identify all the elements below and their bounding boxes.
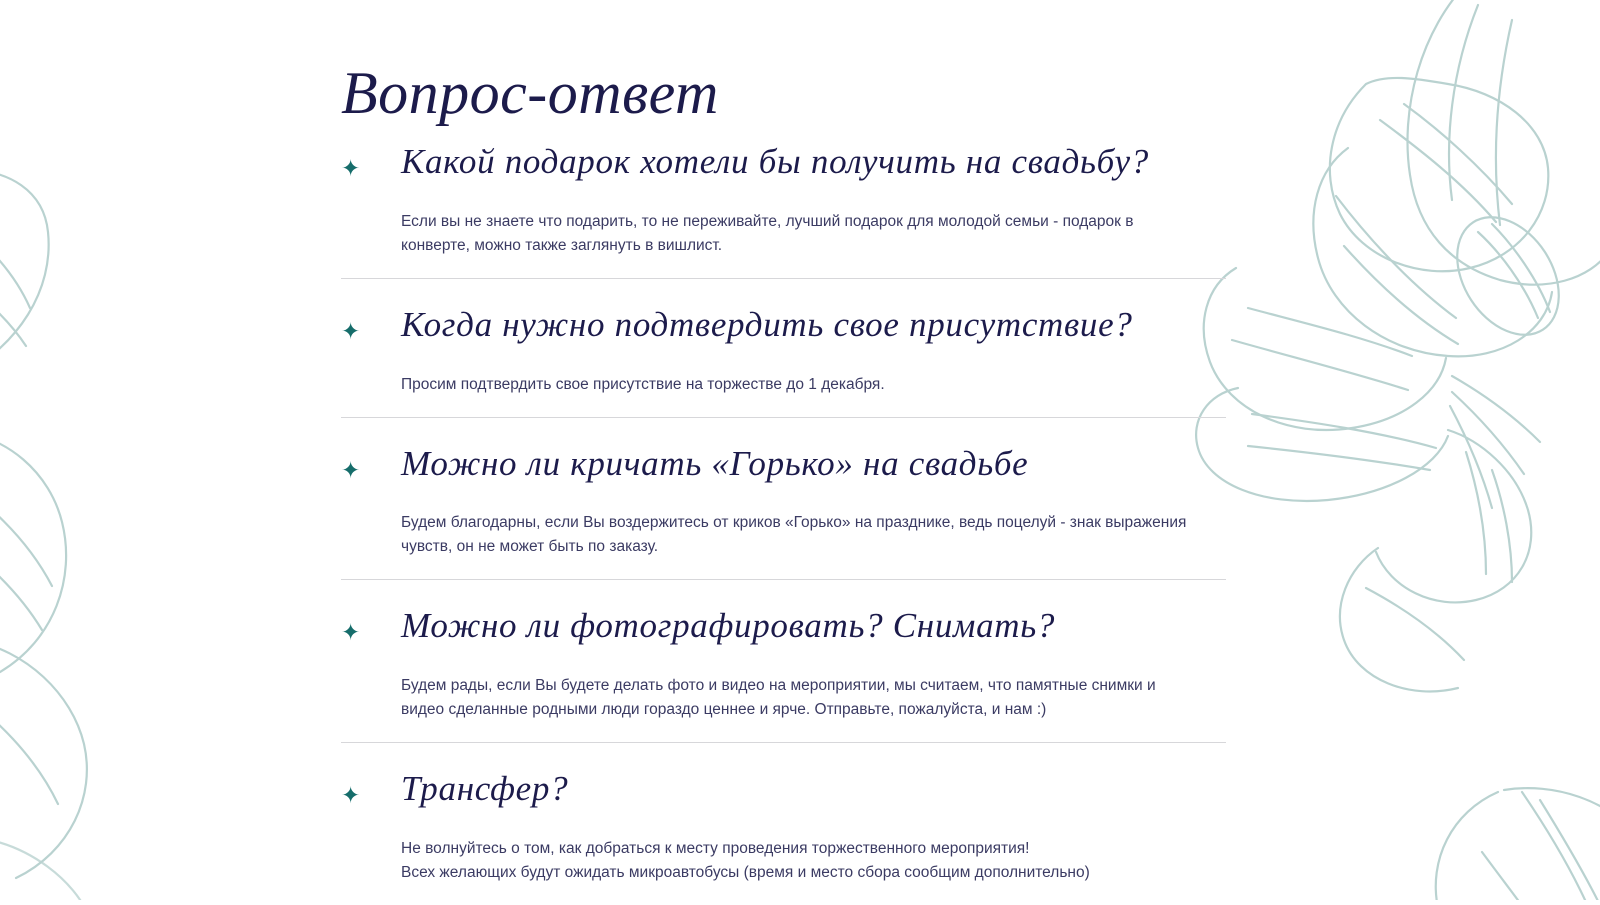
faq-answer: Будем рады, если Вы будете делать фото и… xyxy=(401,648,1201,722)
faq-item[interactable]: ✦ Можно ли кричать «Горько» на свадьбе Б… xyxy=(341,418,1226,581)
page-title: Вопрос-ответ xyxy=(341,60,719,126)
faq-question: Можно ли фотографировать? Снимать? xyxy=(401,604,1226,648)
faq-item[interactable]: ✦ Какой подарок хотели бы получить на св… xyxy=(341,136,1226,279)
faq-page: Вопрос-ответ ✦ Какой подарок хотели бы п… xyxy=(0,0,1600,900)
faq-answer: Если вы не знаете что подарить, то не пе… xyxy=(401,184,1201,258)
faq-item[interactable]: ✦ Можно ли фотографировать? Снимать? Буд… xyxy=(341,580,1226,743)
star-bullet-icon: ✦ xyxy=(341,140,401,180)
faq-question: Когда нужно подтвердить свое присутствие… xyxy=(401,303,1226,347)
star-bullet-icon: ✦ xyxy=(341,442,401,482)
faq-item[interactable]: ✦ Трансфер? Не волнуйтесь о том, как доб… xyxy=(341,743,1226,905)
faq-question: Какой подарок хотели бы получить на свад… xyxy=(401,140,1226,184)
faq-answer: Просим подтвердить свое присутствие на т… xyxy=(401,347,1201,397)
faq-answer: Будем благодарны, если Вы воздержитесь о… xyxy=(401,485,1201,559)
faq-question: Трансфер? xyxy=(401,767,1226,811)
faq-item[interactable]: ✦ Когда нужно подтвердить свое присутств… xyxy=(341,279,1226,418)
star-bullet-icon: ✦ xyxy=(341,303,401,343)
star-bullet-icon: ✦ xyxy=(341,604,401,644)
faq-list: ✦ Какой подарок хотели бы получить на св… xyxy=(341,136,1226,905)
faq-question: Можно ли кричать «Горько» на свадьбе xyxy=(401,442,1226,486)
faq-answer: Не волнуйтесь о том, как добраться к мес… xyxy=(401,811,1201,885)
star-bullet-icon: ✦ xyxy=(341,767,401,807)
